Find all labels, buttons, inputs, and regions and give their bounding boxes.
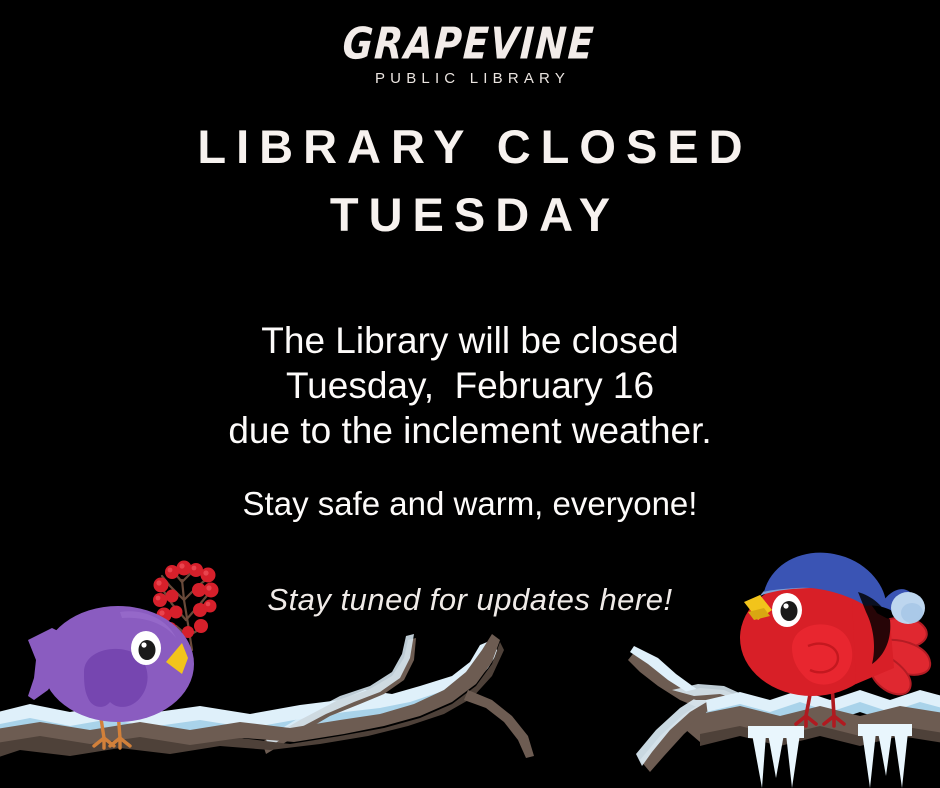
red-bird xyxy=(740,553,930,726)
right-branch-bark-shadow xyxy=(700,726,940,746)
purple-bird xyxy=(28,606,194,748)
purple-bird-eye-glint xyxy=(141,642,146,647)
purple-bird-eye-pupil xyxy=(139,640,156,660)
purple-bird-beak xyxy=(166,643,188,674)
red-bird-leg-lines xyxy=(796,684,844,726)
icicle-cluster-left xyxy=(748,726,804,788)
right-branch-group xyxy=(628,646,940,788)
right-twig-mid-snow xyxy=(672,684,746,700)
left-branch-group xyxy=(0,634,534,760)
red-bird-belly-line xyxy=(808,644,838,673)
body-spacer xyxy=(0,453,940,481)
closure-announcement-poster: GRAPEVINE PUBLIC LIBRARY LIBRARY CLOSED … xyxy=(0,0,940,788)
headline-line-2: TUESDAY xyxy=(0,181,940,249)
logo-subtitle: PUBLIC LIBRARY xyxy=(0,71,940,86)
right-twig-fork-snow xyxy=(630,646,722,704)
purple-bird-eye-white xyxy=(131,631,161,665)
left-branch-bark-shadow xyxy=(0,642,504,760)
right-branch-snow xyxy=(706,690,940,716)
red-bird-tail xyxy=(866,618,930,695)
right-branch-bark xyxy=(686,706,940,742)
right-twig-mid xyxy=(676,688,748,708)
left-branch-snow-shadow xyxy=(0,648,492,740)
left-twig-upper xyxy=(262,638,416,754)
body-line-2: Tuesday, February 16 xyxy=(0,363,940,408)
tagline: Stay tuned for updates here! xyxy=(0,582,940,618)
headline-line-1: LIBRARY CLOSED xyxy=(0,113,940,181)
library-logo: GRAPEVINE PUBLIC LIBRARY xyxy=(0,22,940,86)
left-branch-snow xyxy=(0,640,498,734)
purple-bird-leg-lines xyxy=(94,712,130,748)
tagline-text: Stay tuned for updates here! xyxy=(267,582,672,617)
purple-bird-body xyxy=(42,606,194,722)
right-branch-snow-shadow xyxy=(706,702,940,722)
right-twig-lower xyxy=(640,700,724,772)
left-twig-lower xyxy=(464,690,534,758)
left-twig-upper-snow xyxy=(266,634,414,748)
purple-bird-neck xyxy=(40,626,104,672)
body-closing-line: Stay safe and warm, everyone! xyxy=(0,481,940,526)
headline: LIBRARY CLOSED TUESDAY xyxy=(0,113,940,249)
logo-wordmark: GRAPEVINE xyxy=(0,22,940,66)
red-bird-belly xyxy=(792,624,852,684)
announcement-body: The Library will be closed Tuesday, Febr… xyxy=(0,318,940,526)
right-twig-lower-snow xyxy=(636,694,710,766)
body-line-1: The Library will be closed xyxy=(0,318,940,363)
body-line-3: due to the inclement weather. xyxy=(0,408,940,453)
right-twig-fork xyxy=(628,650,724,710)
left-branch-bark xyxy=(0,634,500,752)
purple-bird-wing xyxy=(84,649,148,707)
icicle-cluster-right xyxy=(858,724,912,788)
purple-bird-tail xyxy=(28,628,66,700)
